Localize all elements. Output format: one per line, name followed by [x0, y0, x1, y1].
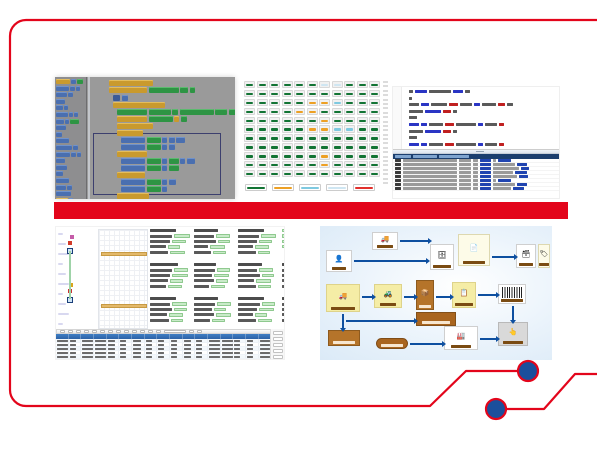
- workspace-block[interactable]: [180, 109, 214, 115]
- palette-block[interactable]: [56, 185, 66, 190]
- status-cell[interactable]: [319, 170, 330, 177]
- status-cell[interactable]: [269, 108, 280, 115]
- status-cell-grid[interactable]: [244, 81, 380, 177]
- workspace-block[interactable]: [147, 186, 161, 192]
- workspace-block[interactable]: [215, 109, 227, 115]
- sheet-tree-sidebar[interactable]: [56, 227, 98, 331]
- status-cell[interactable]: [344, 99, 355, 106]
- table-cell[interactable]: [233, 343, 246, 346]
- field-value-input[interactable]: [168, 285, 182, 288]
- status-cell[interactable]: [257, 170, 268, 177]
- workspace-block-row[interactable]: [113, 95, 128, 101]
- palette-block-row[interactable]: [56, 165, 85, 170]
- status-cell[interactable]: [269, 81, 280, 88]
- table-cell[interactable]: [94, 347, 107, 350]
- field-value-input[interactable]: [169, 313, 183, 316]
- status-cell[interactable]: [344, 81, 355, 88]
- table-cell[interactable]: [246, 359, 259, 361]
- field-value-input[interactable]: [174, 268, 188, 271]
- form-field-row[interactable]: [238, 245, 280, 248]
- status-cell[interactable]: [307, 152, 318, 159]
- status-cell[interactable]: [357, 99, 368, 106]
- field-value-input[interactable]: [214, 308, 226, 311]
- palette-block[interactable]: [56, 79, 70, 84]
- form-field-row[interactable]: [150, 279, 192, 282]
- table-cell[interactable]: [233, 339, 246, 342]
- parameter-form-area[interactable]: [150, 229, 282, 329]
- palette-block-row[interactable]: [56, 171, 85, 176]
- form-field-row[interactable]: [238, 279, 280, 282]
- table-cell[interactable]: [221, 355, 234, 358]
- table-cell[interactable]: [69, 347, 82, 350]
- workspace-block-row[interactable]: [113, 102, 165, 108]
- workspace-block[interactable]: [147, 179, 161, 185]
- log-console-panel[interactable]: [393, 149, 559, 198]
- table-cell[interactable]: [94, 351, 107, 354]
- table-cell[interactable]: [81, 355, 94, 358]
- field-value-input[interactable]: [217, 268, 230, 271]
- form-field-row[interactable]: [150, 245, 192, 248]
- palette-block[interactable]: [56, 138, 69, 143]
- status-cell[interactable]: [244, 152, 255, 159]
- palette-block[interactable]: [74, 112, 78, 117]
- status-cell[interactable]: [294, 134, 305, 141]
- grid-toolbar-button[interactable]: [108, 330, 113, 333]
- status-cell[interactable]: [332, 99, 343, 106]
- table-cell[interactable]: [56, 351, 69, 354]
- table-cell[interactable]: [233, 347, 246, 350]
- code-line[interactable]: [409, 90, 557, 93]
- status-cell[interactable]: [244, 161, 255, 168]
- table-cell[interactable]: [170, 351, 183, 354]
- status-cell[interactable]: [307, 117, 318, 124]
- status-cell[interactable]: [319, 108, 330, 115]
- form-field-row[interactable]: [238, 269, 280, 272]
- table-cell[interactable]: [195, 359, 208, 361]
- table-cell[interactable]: [208, 359, 221, 361]
- field-value-input[interactable]: [259, 268, 273, 271]
- status-cell[interactable]: [244, 90, 255, 97]
- status-cell[interactable]: [332, 108, 343, 115]
- grid-toolbar-button[interactable]: [197, 330, 202, 333]
- table-cell[interactable]: [233, 351, 246, 354]
- table-cell[interactable]: [56, 359, 69, 361]
- form-field-row[interactable]: [282, 308, 285, 311]
- status-cell[interactable]: [344, 143, 355, 150]
- field-value-input[interactable]: [217, 302, 231, 305]
- status-cell[interactable]: [294, 170, 305, 177]
- workspace-block[interactable]: [162, 144, 167, 150]
- status-cell[interactable]: [257, 161, 268, 168]
- table-cell[interactable]: [107, 351, 120, 354]
- form-field-row[interactable]: [282, 274, 285, 277]
- workspace-block[interactable]: [117, 172, 145, 178]
- palette-block[interactable]: [70, 86, 75, 91]
- form-field-row[interactable]: [150, 313, 192, 316]
- field-value-input[interactable]: [258, 319, 272, 322]
- table-cell[interactable]: [195, 355, 208, 358]
- table-cell[interactable]: [195, 351, 208, 354]
- flow-node-supply-truck[interactable]: 🚚: [326, 284, 360, 312]
- form-field-row[interactable]: [238, 303, 280, 306]
- table-cell[interactable]: [157, 351, 170, 354]
- flow-node-erp-system[interactable]: 🗃: [516, 244, 536, 268]
- table-cell[interactable]: [132, 359, 145, 361]
- palette-block[interactable]: [69, 112, 73, 117]
- status-cell[interactable]: [307, 90, 318, 97]
- workspace-block[interactable]: [162, 186, 167, 192]
- grid-toolbar-button[interactable]: [164, 330, 186, 333]
- table-cell[interactable]: [221, 343, 234, 346]
- status-cell[interactable]: [269, 143, 280, 150]
- form-field-row[interactable]: [150, 269, 192, 272]
- table-cell[interactable]: [170, 339, 183, 342]
- status-cell[interactable]: [269, 161, 280, 168]
- field-value-input[interactable]: [262, 302, 275, 305]
- status-cell[interactable]: [294, 125, 305, 132]
- workspace-block[interactable]: [147, 144, 161, 150]
- grid-toolbar-button[interactable]: [116, 330, 121, 333]
- grid-body[interactable]: [56, 339, 284, 361]
- workspace-block-row[interactable]: [121, 158, 195, 164]
- status-cell[interactable]: [369, 170, 380, 177]
- workspace-block[interactable]: [162, 137, 167, 143]
- status-cell[interactable]: [319, 161, 330, 168]
- field-value-input[interactable]: [212, 319, 225, 322]
- code-line[interactable]: [409, 103, 557, 106]
- grid-side-buttons[interactable]: [270, 329, 284, 359]
- flow-node-inbound-done[interactable]: [376, 338, 408, 349]
- status-cell[interactable]: [307, 161, 318, 168]
- workspace-block[interactable]: [176, 137, 185, 143]
- form-field-row[interactable]: [150, 303, 192, 306]
- form-field-row[interactable]: [194, 251, 236, 254]
- status-cell[interactable]: [282, 152, 293, 159]
- flow-node-delivery-truck-top[interactable]: 🚚: [372, 232, 398, 250]
- status-cell[interactable]: [332, 152, 343, 159]
- flow-node-forklift[interactable]: 🚜: [374, 284, 402, 308]
- form-field-row[interactable]: [238, 285, 280, 288]
- grid-toolbar-button[interactable]: [140, 330, 145, 333]
- form-field-row[interactable]: [238, 235, 280, 238]
- code-line[interactable]: [409, 130, 557, 133]
- grid-toolbar-button[interactable]: [92, 330, 97, 333]
- table-cell[interactable]: [119, 343, 132, 346]
- workspace-block[interactable]: [121, 144, 145, 150]
- form-group[interactable]: [282, 297, 285, 324]
- schedule-grid[interactable]: [98, 229, 148, 329]
- table-cell[interactable]: [183, 355, 196, 358]
- status-cell[interactable]: [307, 81, 318, 88]
- table-cell[interactable]: [183, 339, 196, 342]
- form-group[interactable]: [150, 263, 192, 290]
- workspace-block[interactable]: [121, 165, 145, 171]
- form-field-row[interactable]: [194, 245, 236, 248]
- form-group[interactable]: [238, 297, 280, 324]
- workspace-block-row[interactable]: [121, 137, 185, 143]
- palette-block-row[interactable]: [56, 79, 85, 84]
- console-log-rows[interactable]: [393, 159, 559, 191]
- code-line[interactable]: [409, 123, 557, 126]
- field-value-input[interactable]: [258, 285, 271, 288]
- status-cell[interactable]: [282, 99, 293, 106]
- grid-toolbar-button[interactable]: [156, 330, 161, 333]
- workspace-block[interactable]: [169, 144, 175, 150]
- status-cell[interactable]: [294, 81, 305, 88]
- form-field-row[interactable]: [194, 313, 236, 316]
- status-cell[interactable]: [357, 143, 368, 150]
- status-cell[interactable]: [344, 90, 355, 97]
- form-field-row[interactable]: [194, 279, 236, 282]
- workspace-block[interactable]: [187, 158, 195, 164]
- workspace-block-row[interactable]: [121, 144, 175, 150]
- grid-toolbar-button[interactable]: [60, 330, 65, 333]
- flow-node-barcode-label[interactable]: [498, 284, 526, 304]
- table-cell[interactable]: [107, 343, 120, 346]
- table-cell[interactable]: [132, 355, 145, 358]
- table-cell[interactable]: [195, 339, 208, 342]
- palette-block[interactable]: [56, 198, 68, 199]
- table-cell[interactable]: [195, 347, 208, 350]
- table-cell[interactable]: [94, 355, 107, 358]
- palette-block-row[interactable]: [56, 92, 85, 97]
- table-cell[interactable]: [145, 351, 158, 354]
- field-value-input[interactable]: [282, 229, 285, 232]
- field-value-input[interactable]: [262, 274, 274, 277]
- workspace-block[interactable]: [162, 158, 167, 164]
- status-cell[interactable]: [369, 117, 380, 124]
- field-value-input[interactable]: [255, 313, 267, 316]
- table-cell[interactable]: [221, 347, 234, 350]
- table-cell[interactable]: [94, 339, 107, 342]
- status-cell[interactable]: [282, 117, 293, 124]
- flow-node-quality-check[interactable]: 📋: [452, 282, 476, 308]
- field-value-input[interactable]: [174, 308, 187, 311]
- form-field-row[interactable]: [282, 313, 285, 316]
- status-cell[interactable]: [294, 117, 305, 124]
- status-cell[interactable]: [369, 99, 380, 106]
- form-field-row[interactable]: [282, 279, 285, 282]
- table-cell[interactable]: [221, 359, 234, 361]
- field-value-input[interactable]: [170, 251, 185, 254]
- workspace-block[interactable]: [117, 151, 147, 157]
- status-cell[interactable]: [269, 125, 280, 132]
- table-cell[interactable]: [157, 355, 170, 358]
- workspace-block[interactable]: [121, 158, 145, 164]
- grid-action-button[interactable]: [273, 337, 283, 341]
- form-field-row[interactable]: [194, 235, 236, 238]
- form-group[interactable]: [194, 297, 236, 324]
- form-field-row[interactable]: [194, 303, 236, 306]
- table-cell[interactable]: [233, 355, 246, 358]
- code-line[interactable]: [409, 116, 557, 119]
- status-cell[interactable]: [369, 108, 380, 115]
- status-cell[interactable]: [269, 117, 280, 124]
- palette-block-row[interactable]: [56, 138, 85, 143]
- palette-block[interactable]: [70, 119, 79, 124]
- workspace-block[interactable]: [113, 102, 165, 108]
- grid-toolbar-button[interactable]: [132, 330, 137, 333]
- workspace-block-row[interactable]: [117, 172, 145, 178]
- table-cell[interactable]: [119, 351, 132, 354]
- status-cell[interactable]: [369, 143, 380, 150]
- table-cell[interactable]: [183, 343, 196, 346]
- table-cell[interactable]: [246, 347, 259, 350]
- workspace-block[interactable]: [122, 95, 128, 101]
- workspace-block[interactable]: [149, 87, 179, 93]
- table-cell[interactable]: [208, 351, 221, 354]
- palette-block-row[interactable]: [56, 99, 85, 104]
- field-value-input[interactable]: [216, 234, 230, 237]
- workspace-block[interactable]: [121, 137, 145, 143]
- field-value-input[interactable]: [210, 245, 225, 248]
- field-value-input[interactable]: [255, 245, 269, 248]
- status-cell[interactable]: [319, 117, 330, 124]
- table-cell[interactable]: [94, 343, 107, 346]
- status-cell[interactable]: [257, 117, 268, 124]
- grid-action-button[interactable]: [273, 349, 283, 353]
- form-group[interactable]: [282, 229, 285, 251]
- form-group[interactable]: [282, 263, 285, 290]
- grid-toolbar-button[interactable]: [76, 330, 81, 333]
- status-cell[interactable]: [282, 108, 293, 115]
- field-value-input[interactable]: [172, 274, 188, 277]
- table-cell[interactable]: [208, 343, 221, 346]
- palette-block-row[interactable]: [56, 178, 85, 183]
- log-row[interactable]: [393, 187, 559, 191]
- table-cell[interactable]: [246, 343, 259, 346]
- code-line[interactable]: [409, 110, 557, 113]
- grid-toolbar-button[interactable]: [189, 330, 194, 333]
- status-cell[interactable]: [357, 134, 368, 141]
- status-cell[interactable]: [257, 143, 268, 150]
- palette-block-row[interactable]: [56, 145, 85, 150]
- form-field-row[interactable]: [194, 269, 236, 272]
- status-cell[interactable]: [294, 90, 305, 97]
- grid-toolbar-button[interactable]: [100, 330, 105, 333]
- workspace-block[interactable]: [169, 165, 179, 171]
- status-cell[interactable]: [282, 143, 293, 150]
- table-cell[interactable]: [107, 355, 120, 358]
- field-value-input[interactable]: [259, 240, 272, 243]
- palette-block[interactable]: [77, 152, 81, 157]
- status-cell[interactable]: [244, 143, 255, 150]
- form-group[interactable]: [150, 229, 192, 256]
- form-group[interactable]: [150, 297, 192, 324]
- status-cell[interactable]: [357, 81, 368, 88]
- status-cell[interactable]: [357, 125, 368, 132]
- tree-node-marker[interactable]: [68, 241, 72, 245]
- workspace-block[interactable]: [162, 179, 167, 185]
- workspace-block[interactable]: [190, 87, 195, 93]
- field-value-input[interactable]: [168, 245, 180, 248]
- status-cell[interactable]: [257, 99, 268, 106]
- table-cell[interactable]: [107, 359, 120, 361]
- field-value-input[interactable]: [216, 313, 231, 316]
- table-cell[interactable]: [208, 339, 221, 342]
- palette-block-row[interactable]: [56, 198, 85, 199]
- palette-block[interactable]: [68, 92, 73, 97]
- status-cell[interactable]: [344, 108, 355, 115]
- status-cell[interactable]: [282, 170, 293, 177]
- workspace-block-row[interactable]: [117, 130, 143, 136]
- status-cell[interactable]: [319, 125, 330, 132]
- status-cell[interactable]: [244, 108, 255, 115]
- palette-block[interactable]: [56, 158, 65, 163]
- workspace-block-row[interactable]: [121, 165, 179, 171]
- field-value-input[interactable]: [256, 279, 271, 282]
- palette-block-row[interactable]: [56, 86, 85, 91]
- table-cell[interactable]: [195, 343, 208, 346]
- status-cell[interactable]: [307, 125, 318, 132]
- status-cell[interactable]: [257, 125, 268, 132]
- palette-block[interactable]: [56, 86, 69, 91]
- table-cell[interactable]: [221, 339, 234, 342]
- palette-block[interactable]: [64, 105, 68, 110]
- status-cell[interactable]: [332, 90, 343, 97]
- table-cell[interactable]: [170, 355, 183, 358]
- form-field-row[interactable]: [238, 308, 280, 311]
- table-cell[interactable]: [132, 343, 145, 346]
- status-cell[interactable]: [357, 117, 368, 124]
- status-cell[interactable]: [319, 81, 330, 88]
- workspace-block-row[interactable]: [117, 109, 235, 115]
- table-cell[interactable]: [94, 359, 107, 361]
- form-group[interactable]: [238, 229, 280, 256]
- form-group[interactable]: [194, 263, 236, 290]
- form-field-row[interactable]: [194, 240, 236, 243]
- code-line[interactable]: [409, 136, 557, 139]
- status-cell[interactable]: [332, 161, 343, 168]
- palette-block-row[interactable]: [56, 185, 85, 190]
- grid-action-button[interactable]: [273, 331, 283, 335]
- palette-block[interactable]: [71, 152, 76, 157]
- field-value-input[interactable]: [282, 245, 285, 248]
- form-field-row[interactable]: [150, 251, 192, 254]
- table-cell[interactable]: [157, 343, 170, 346]
- gantt-bar[interactable]: [101, 252, 147, 256]
- status-cell[interactable]: [294, 152, 305, 159]
- status-cell[interactable]: [369, 161, 380, 168]
- status-board-screenshot[interactable]: [242, 77, 390, 199]
- status-cell[interactable]: [357, 170, 368, 177]
- workspace-block[interactable]: [147, 158, 161, 164]
- palette-block[interactable]: [56, 112, 68, 117]
- status-cell[interactable]: [282, 125, 293, 132]
- flow-node-shelving[interactable]: 🏭: [444, 326, 478, 350]
- palette-block[interactable]: [71, 79, 76, 84]
- form-field-row[interactable]: [282, 319, 285, 322]
- workspace-block-row[interactable]: [117, 151, 147, 157]
- table-cell[interactable]: [81, 359, 94, 361]
- form-field-row[interactable]: [194, 285, 236, 288]
- palette-block[interactable]: [56, 165, 67, 170]
- status-cell[interactable]: [369, 125, 380, 132]
- form-field-row[interactable]: [282, 269, 285, 272]
- palette-block-row[interactable]: [56, 152, 85, 157]
- status-cell[interactable]: [294, 99, 305, 106]
- palette-block[interactable]: [73, 145, 78, 150]
- field-value-input[interactable]: [218, 240, 230, 243]
- field-value-input[interactable]: [172, 240, 186, 243]
- palette-block-row[interactable]: [56, 112, 85, 117]
- workspace-block[interactable]: [109, 80, 153, 86]
- table-cell[interactable]: [69, 355, 82, 358]
- form-field-row[interactable]: [282, 229, 285, 232]
- table-row[interactable]: [56, 359, 284, 361]
- grid-toolbar-button[interactable]: [68, 330, 73, 333]
- field-value-input[interactable]: [211, 285, 225, 288]
